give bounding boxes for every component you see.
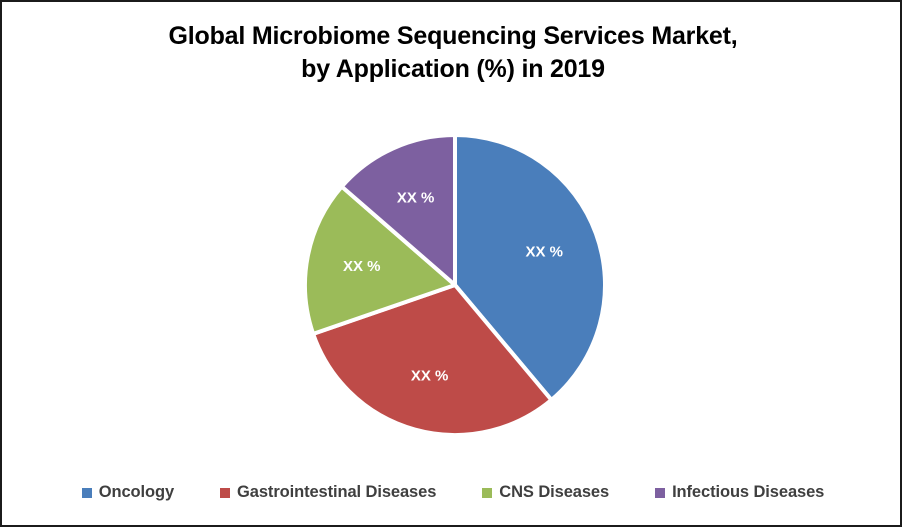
- pie-slice-label-gastrointestinal-diseases: XX %: [411, 368, 449, 385]
- legend-swatch-icon: [655, 488, 665, 498]
- pie-chart-svg: XX %XX %XX %XX %: [301, 131, 609, 439]
- chart-title: Global Microbiome Sequencing Services Ma…: [2, 20, 902, 86]
- legend-item-label: Gastrointestinal Diseases: [237, 483, 436, 502]
- legend-item-label: Infectious Diseases: [672, 483, 824, 502]
- legend-swatch-icon: [220, 488, 230, 498]
- legend-swatch-icon: [82, 488, 92, 498]
- pie-chart-plot-area: XX %XX %XX %XX %: [301, 131, 609, 439]
- legend-item-label: CNS Diseases: [499, 483, 609, 502]
- chart-title-line-2: by Application (%) in 2019: [2, 53, 902, 86]
- legend-item-cns-diseases[interactable]: CNS Diseases: [482, 483, 609, 502]
- pie-slice-label-infectious-diseases: XX %: [397, 190, 435, 207]
- pie-slice-label-oncology: XX %: [526, 243, 564, 260]
- pie-slice-label-cns-diseases: XX %: [343, 258, 381, 275]
- pie-slice-group: [305, 135, 605, 435]
- chart-legend: OncologyGastrointestinal DiseasesCNS Dis…: [2, 483, 902, 502]
- legend-item-oncology[interactable]: Oncology: [82, 483, 174, 502]
- chart-title-line-1: Global Microbiome Sequencing Services Ma…: [2, 20, 902, 53]
- legend-item-label: Oncology: [99, 483, 174, 502]
- legend-swatch-icon: [482, 488, 492, 498]
- legend-item-infectious-diseases[interactable]: Infectious Diseases: [655, 483, 824, 502]
- legend-item-gastrointestinal-diseases[interactable]: Gastrointestinal Diseases: [220, 483, 436, 502]
- chart-container: Global Microbiome Sequencing Services Ma…: [0, 0, 902, 527]
